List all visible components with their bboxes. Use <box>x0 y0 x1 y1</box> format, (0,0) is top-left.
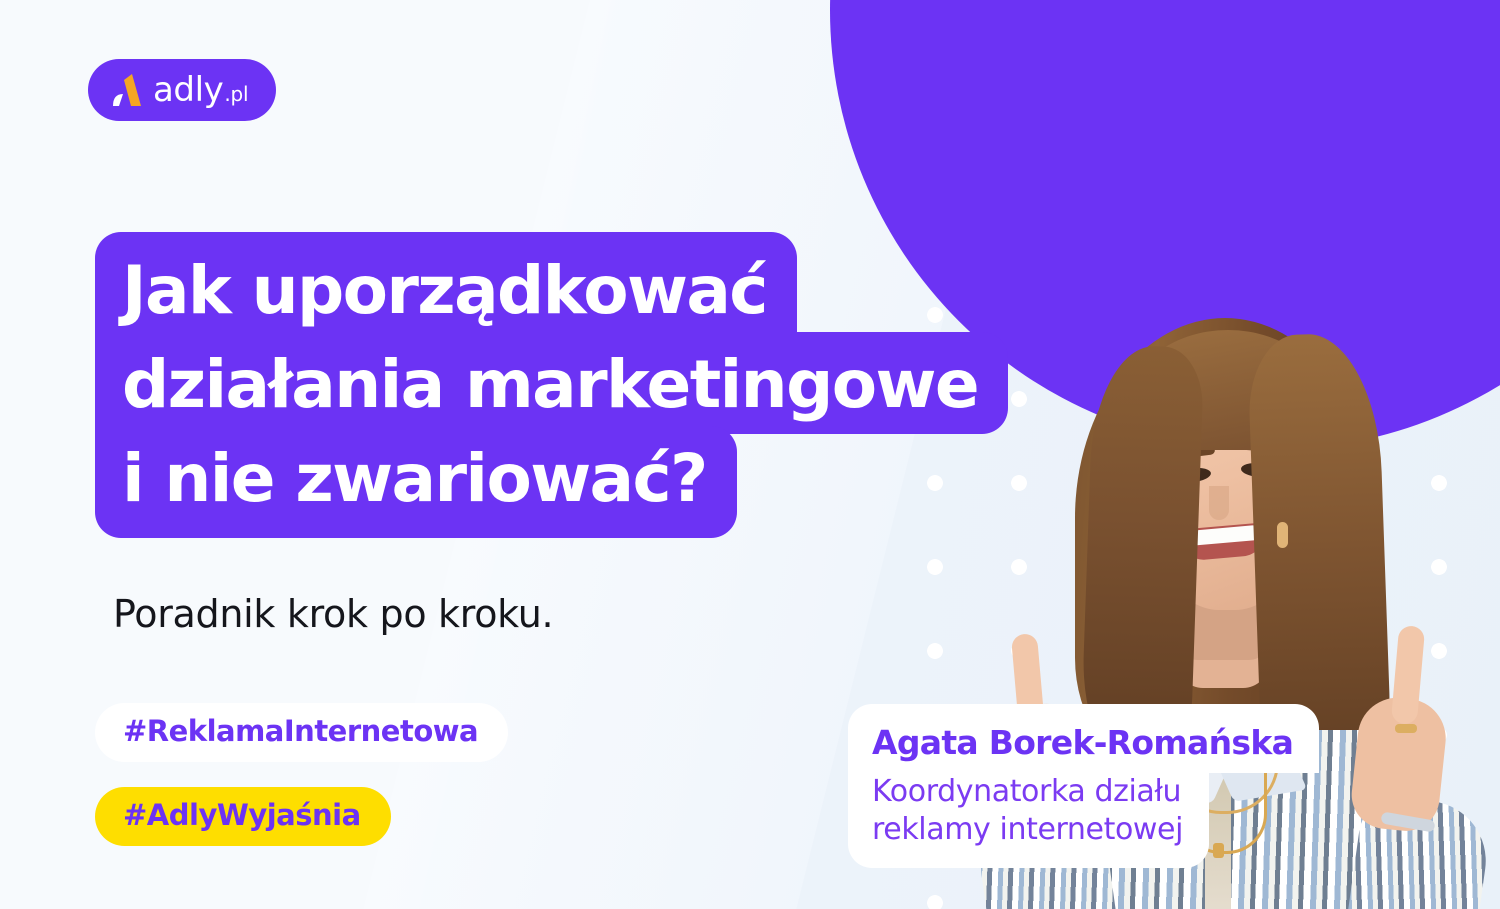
hashtag-adly-wyjasnia[interactable]: #AdlyWyjaśnia <box>95 787 391 846</box>
headline: Jak uporządkować działania marketingowe … <box>95 232 1008 538</box>
logo-tld: .pl <box>224 84 248 104</box>
subtitle: Poradnik krok po kroku. <box>113 592 553 636</box>
speaker-role-line-1: Koordynatorka działu <box>872 773 1183 811</box>
logo-wordmark: adly <box>153 73 223 107</box>
hashtag-reklama-internetowa[interactable]: #ReklamaInternetowa <box>95 703 508 762</box>
headline-line-2: działania marketingowe <box>95 332 1008 434</box>
speaker-role-line-2: reklamy internetowej <box>872 811 1183 849</box>
adly-a-mark-icon <box>110 72 144 108</box>
promo-banner: adly .pl Jak uporządkować działania mark… <box>0 0 1500 909</box>
earring <box>1277 522 1288 548</box>
adly-logo-text: adly .pl <box>153 73 248 107</box>
nose <box>1209 486 1229 520</box>
adly-logo[interactable]: adly .pl <box>88 59 276 121</box>
headline-line-3: i nie zwariować? <box>95 426 737 538</box>
speaker-card: Agata Borek-Romańska Koordynatorka dział… <box>848 704 1319 868</box>
ring-right <box>1395 724 1417 733</box>
speaker-name: Agata Borek-Romańska <box>848 704 1319 773</box>
speaker-role: Koordynatorka działu reklamy internetowe… <box>848 773 1209 868</box>
headline-line-1: Jak uporządkować <box>95 232 797 340</box>
